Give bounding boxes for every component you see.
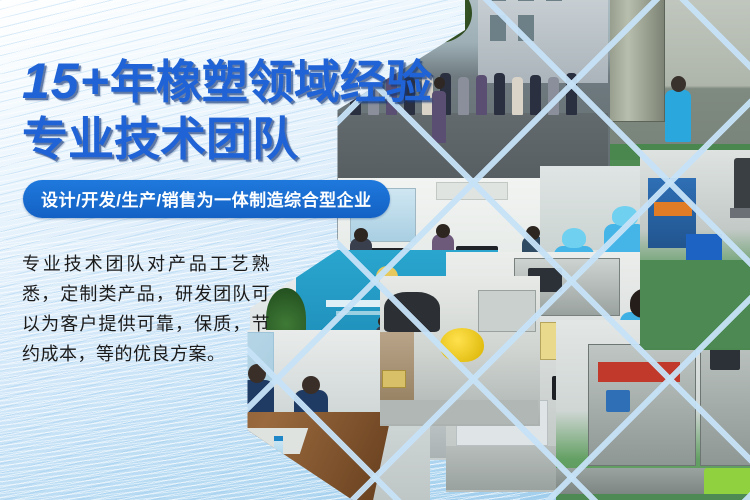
text-panel: 15+年橡塑领域经验 专业技术团队 设计/开发/生产/销售为一体制造综合型企业 …	[0, 0, 470, 500]
photo-lathe-tooling-area	[640, 150, 750, 350]
headline-line-1: 15+年橡塑领域经验	[22, 56, 432, 106]
description-text: 专业技术团队对产品工艺熟悉，定制类产品，研发团队可以为客户提供可靠，保质，节约成…	[22, 250, 270, 370]
headline-line-2: 专业技术团队	[22, 116, 432, 162]
headline-group: 15+年橡塑领域经验 专业技术团队	[22, 56, 432, 162]
years-number: 15+	[22, 53, 110, 109]
headline-line-1-rest: 年橡塑领域经验	[110, 56, 432, 108]
promo-banner: 15+年橡塑领域经验 专业技术团队 设计/开发/生产/销售为一体制造综合型企业 …	[0, 0, 750, 500]
capability-badge: 设计/开发/生产/销售为一体制造综合型企业	[23, 180, 390, 218]
